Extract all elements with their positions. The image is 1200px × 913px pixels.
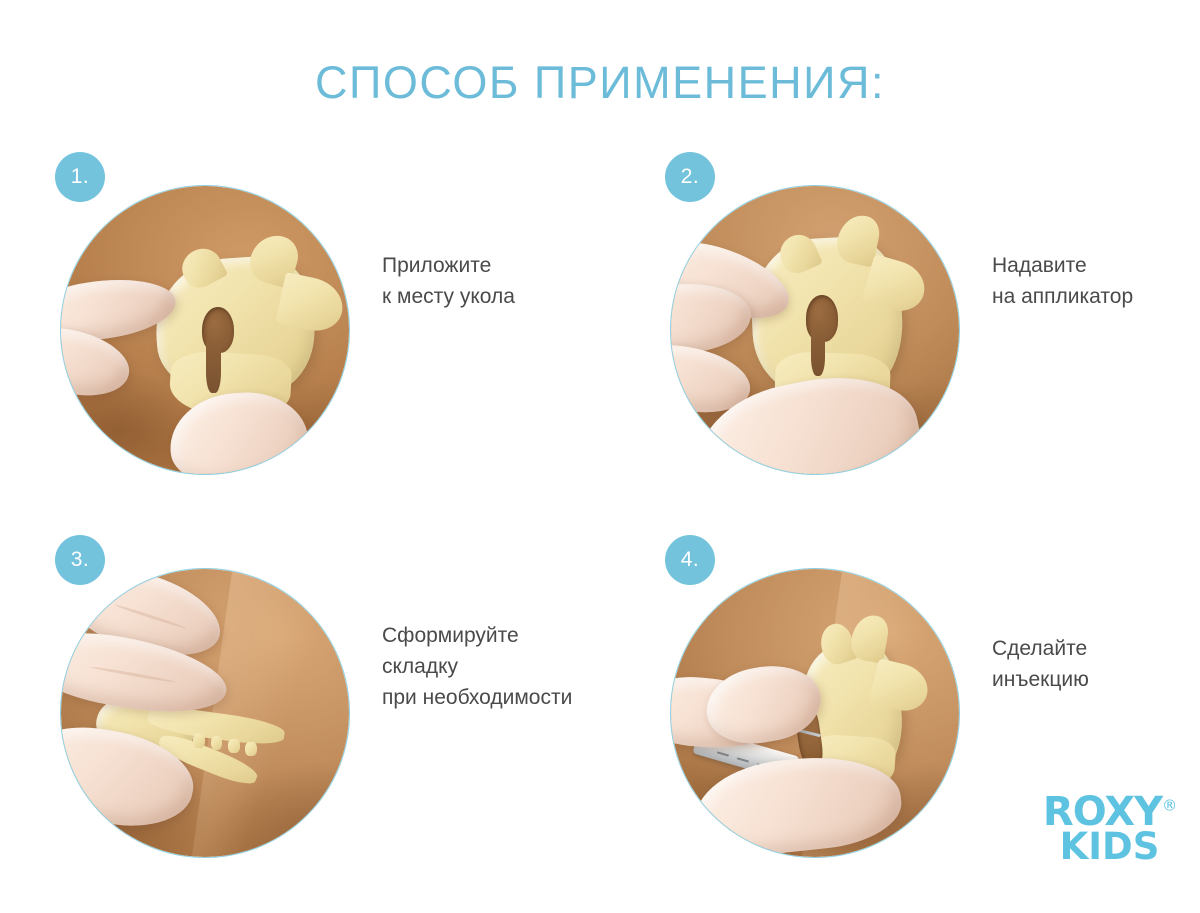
caption-line: Сделайте xyxy=(992,633,1200,664)
brand-logo: ROXY® KIDS xyxy=(1037,792,1182,872)
photo-image-3 xyxy=(61,569,349,857)
caption-line: на аппликатор xyxy=(992,281,1200,312)
step-card-2: 2. Надавите на аппликатор xyxy=(655,145,1200,530)
step-card-1: 1. Приложите к месту xyxy=(45,145,605,530)
step-number-badge-3: 3. xyxy=(55,535,105,585)
photo-image-2 xyxy=(671,186,959,474)
registered-trademark-icon: ® xyxy=(1162,797,1176,815)
step-photo-4 xyxy=(670,568,960,858)
applicator-nub xyxy=(228,739,240,753)
steps-container: 1. Приложите к месту xyxy=(0,0,1200,900)
photo-image-1 xyxy=(61,186,349,474)
step-photo-2 xyxy=(670,185,960,475)
step-caption-2: Надавите на аппликатор xyxy=(992,250,1200,312)
logo-roxy-text: ROXY® xyxy=(1043,792,1176,832)
step-number-badge-1: 1. xyxy=(55,152,105,202)
caption-line: Надавите xyxy=(992,250,1200,281)
logo-roxy-label: ROXY xyxy=(1043,789,1162,835)
caption-line: Приложите xyxy=(382,250,612,281)
caption-line: при необходимости xyxy=(382,682,622,713)
step-photo-1 xyxy=(60,185,350,475)
applicator-nub xyxy=(193,733,205,747)
applicator-nub xyxy=(211,736,223,750)
caption-line: складку xyxy=(382,651,622,682)
photo-image-4 xyxy=(671,569,959,857)
step-number-badge-4: 4. xyxy=(665,535,715,585)
step-photo-3 xyxy=(60,568,350,858)
applicator-nub xyxy=(245,742,257,756)
step-caption-3: Сформируйте складку при необходимости xyxy=(382,620,622,713)
caption-line: Сформируйте xyxy=(382,620,622,651)
step-number-badge-2: 2. xyxy=(665,152,715,202)
caption-line: к месту укола xyxy=(382,281,612,312)
step-card-3: 3. Сформируйте xyxy=(45,528,605,913)
applicator-slot xyxy=(811,330,825,376)
step-caption-1: Приложите к месту укола xyxy=(382,250,612,312)
applicator-slot xyxy=(206,342,220,394)
caption-line: инъекцию xyxy=(992,664,1200,695)
step-caption-4: Сделайте инъекцию xyxy=(992,633,1200,695)
